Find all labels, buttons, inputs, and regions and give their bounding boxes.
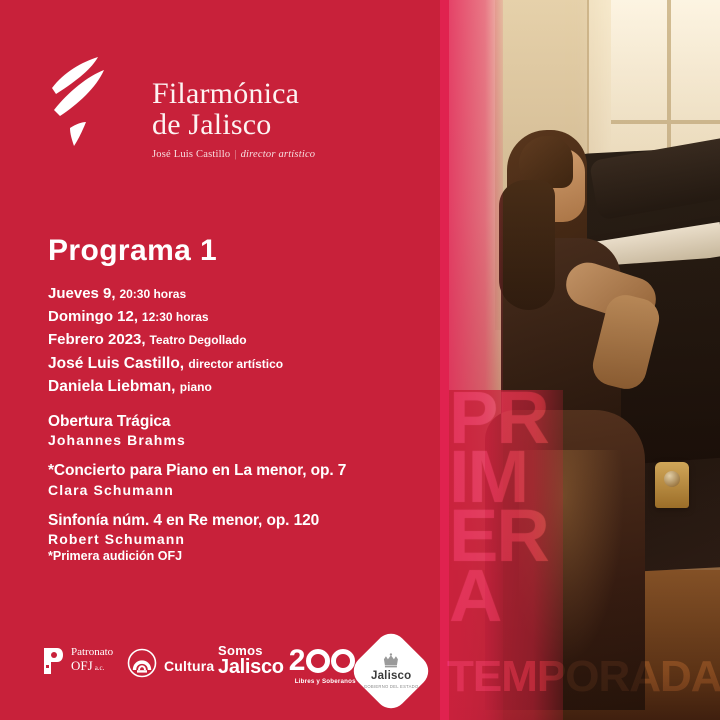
- venue: Teatro Degollado: [149, 333, 246, 347]
- patronato-line3: a.c.: [93, 664, 105, 672]
- cultura-logo: Cultura: [127, 648, 214, 683]
- jalisco-crest-icon: [381, 653, 401, 670]
- two-digit: 2: [289, 646, 306, 676]
- somos-line2: Jalisco: [218, 657, 284, 677]
- brand-name-line2: de Jalisco: [152, 109, 315, 140]
- date-row: Febrero 2023, Teatro Degollado: [48, 329, 247, 352]
- work-title: *Concierto para Piano en La menor, op. 7: [48, 461, 346, 480]
- date-day: Domingo 12,: [48, 308, 138, 325]
- brand-text: Filarmónica de Jalisco José Luis Castill…: [152, 78, 315, 160]
- performers: José Luis Castillo, director artístico D…: [48, 352, 283, 399]
- patronato-line1: Patronato: [71, 647, 113, 658]
- cultura-label: Cultura: [164, 658, 214, 674]
- brand-conductor-line: José Luis Castillo|director artístico: [152, 149, 315, 160]
- performer-role: piano: [180, 380, 212, 394]
- zero-ring-icon: [306, 649, 330, 673]
- work-item: Obertura Trágica Johannes Brahms: [48, 412, 346, 448]
- date-month: Febrero 2023,: [48, 331, 146, 348]
- work-composer: Johannes Brahms: [48, 432, 346, 448]
- conductor-role: director artístico: [241, 149, 316, 160]
- date-time: 12:30 horas: [142, 310, 209, 324]
- patronato-icon: [42, 646, 64, 676]
- jalisco-badge-name: Jalisco: [364, 671, 419, 683]
- poster-content-panel: Filarmónica de Jalisco José Luis Castill…: [0, 0, 443, 720]
- footnote: *Primera audición OFJ: [48, 549, 182, 563]
- season-primera-stack: PR IM ER A: [443, 388, 720, 658]
- work-composer: Clara Schumann: [48, 482, 346, 498]
- patronato-ofj-logo: Patronato OFJa.c.: [42, 646, 113, 676]
- conductor-name: José Luis Castillo: [152, 149, 230, 160]
- separator: |: [230, 149, 240, 160]
- performer-name: José Luis Castillo,: [48, 355, 184, 372]
- cultura-arch-icon: [127, 648, 157, 683]
- date-row: Domingo 12, 12:30 horas: [48, 306, 247, 329]
- season-letters-row: A: [449, 566, 500, 625]
- work-title: Sinfonía núm. 4 en Re menor, op. 120: [48, 511, 346, 530]
- jalisco-badge-shape: Jalisco GOBIERNO DEL ESTADO: [347, 627, 435, 715]
- patronato-text: Patronato OFJa.c.: [71, 647, 113, 675]
- somos-jalisco-text: Somos Jalisco: [218, 644, 284, 677]
- jalisco-badge-sub: GOBIERNO DEL ESTADO: [364, 684, 419, 689]
- performer-row: José Luis Castillo, director artístico: [48, 352, 283, 375]
- brand-name-line1: Filarmónica: [152, 78, 315, 109]
- bicentennial-tagline: Libres y Soberanos: [295, 678, 356, 685]
- filarmonica-brushstroke-icon: [48, 54, 110, 154]
- performer-row: Daniela Liebman, piano: [48, 375, 283, 398]
- repertoire-list: Obertura Trágica Johannes Brahms *Concie…: [48, 412, 346, 560]
- page-title: Programa 1: [48, 234, 217, 268]
- work-item: Sinfonía núm. 4 en Re menor, op. 120 Rob…: [48, 511, 346, 547]
- season-temporada-word: TEMPORADA: [443, 655, 720, 699]
- sponsor-logo-bar: Patronato OFJa.c. Cultura Somos: [0, 636, 443, 700]
- performance-dates: Jueves 9, 20:30 horas Domingo 12, 12:30 …: [48, 283, 247, 351]
- concert-poster: PR IM ER A TEMPORADA Filarmónica de Jali…: [0, 0, 720, 720]
- jalisco-government-logo: Jalisco GOBIERNO DEL ESTADO: [360, 640, 422, 702]
- patronato-line2: OFJ: [71, 658, 93, 673]
- work-composer: Robert Schumann: [48, 531, 346, 547]
- bicentennial-200-mark: 2 Libres y Soberanos: [289, 646, 356, 676]
- date-time: 20:30 horas: [119, 287, 186, 301]
- jalisco-badge-inner: Jalisco GOBIERNO DEL ESTADO: [364, 653, 419, 689]
- zero-ring-icon: [331, 649, 355, 673]
- performer-name: Daniela Liebman,: [48, 378, 175, 395]
- date-row: Jueves 9, 20:30 horas: [48, 283, 247, 306]
- work-item: *Concierto para Piano en La menor, op. 7…: [48, 461, 346, 497]
- work-title: Obertura Trágica: [48, 412, 346, 431]
- performer-role: director artístico: [188, 357, 283, 371]
- somos-jalisco-200-logo: Somos Jalisco 2 Libres y Soberanos: [218, 644, 355, 677]
- date-day: Jueves 9,: [48, 285, 116, 302]
